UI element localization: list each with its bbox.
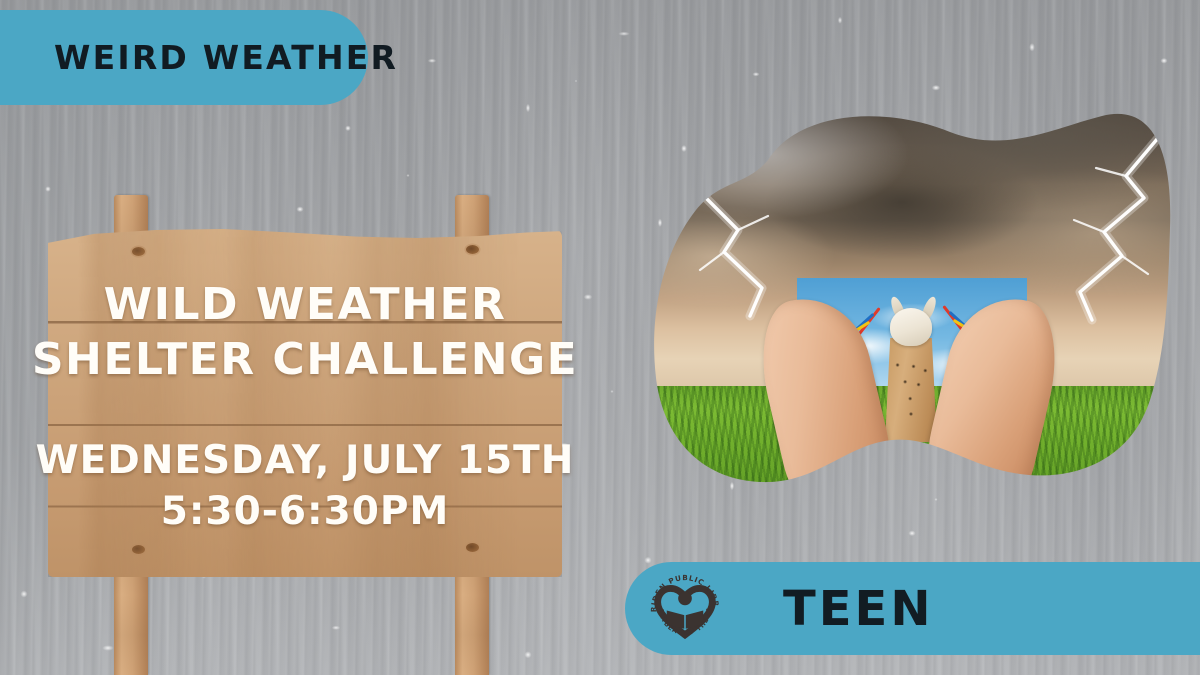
wooden-sign: WILD WEATHER SHELTER CHALLENGE WEDNESDAY… bbox=[40, 195, 570, 675]
weird-weather-banner-label: WEIRD WEATHER bbox=[54, 38, 398, 77]
library-logo-icon: MERIDEN PUBLIC LIBRARY HEARTBEAT OF THE … bbox=[647, 571, 723, 647]
wood-knot-icon bbox=[466, 543, 479, 552]
wood-knot-icon bbox=[132, 247, 145, 256]
wood-knot-icon bbox=[466, 245, 479, 254]
wood-knot-icon bbox=[132, 545, 145, 554]
sign-board bbox=[48, 229, 562, 577]
library-logo: MERIDEN PUBLIC LIBRARY HEARTBEAT OF THE … bbox=[647, 571, 723, 647]
weird-weather-banner: WEIRD WEATHER bbox=[0, 10, 368, 105]
teen-badge-label: TEEN bbox=[783, 581, 934, 637]
teen-audience-badge: MERIDEN PUBLIC LIBRARY HEARTBEAT OF THE … bbox=[625, 562, 1200, 655]
event-poster: WEIRD WEATHER WILD WEATHER SHELTER CHALL… bbox=[0, 0, 1200, 675]
treeline bbox=[650, 374, 1174, 386]
